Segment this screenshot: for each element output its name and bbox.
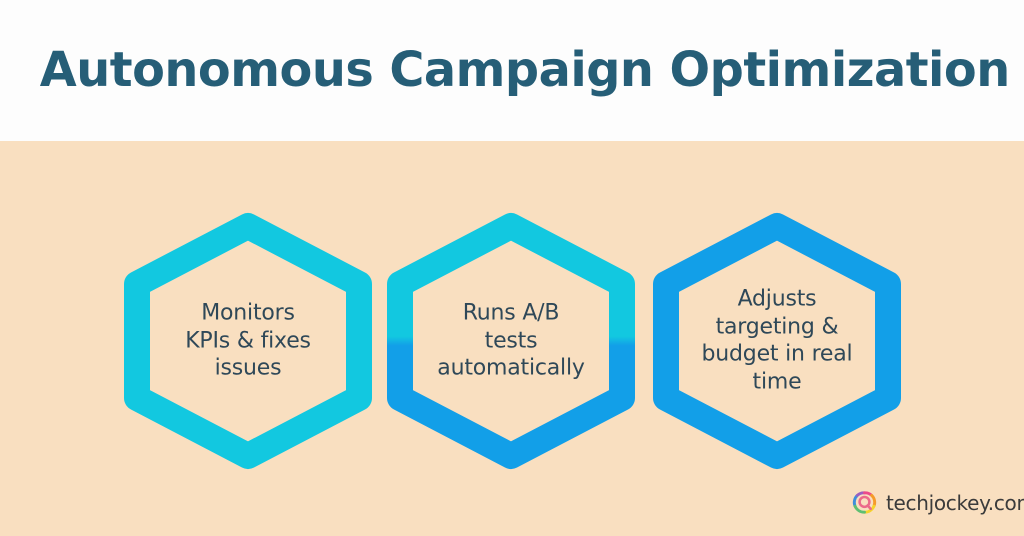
- hexagon-step-2-label: Runs A/B tests automatically: [411, 299, 611, 382]
- hexagon-step-1-label: Monitors KPIs & fixes issues: [143, 299, 353, 382]
- page-title: Autonomous Campaign Optimization: [0, 45, 1010, 95]
- hexagon-step-3-label: Adjusts targeting & budget in real time: [670, 286, 885, 397]
- brand-logo: techjockey.com: [851, 489, 1024, 516]
- brand-logo-text: techjockey.com: [886, 493, 1024, 513]
- infographic-canvas: Autonomous Campaign Optimization: [0, 0, 1024, 536]
- header-band: Autonomous Campaign Optimization: [0, 0, 1024, 141]
- techjockey-swirl-icon: [851, 489, 878, 516]
